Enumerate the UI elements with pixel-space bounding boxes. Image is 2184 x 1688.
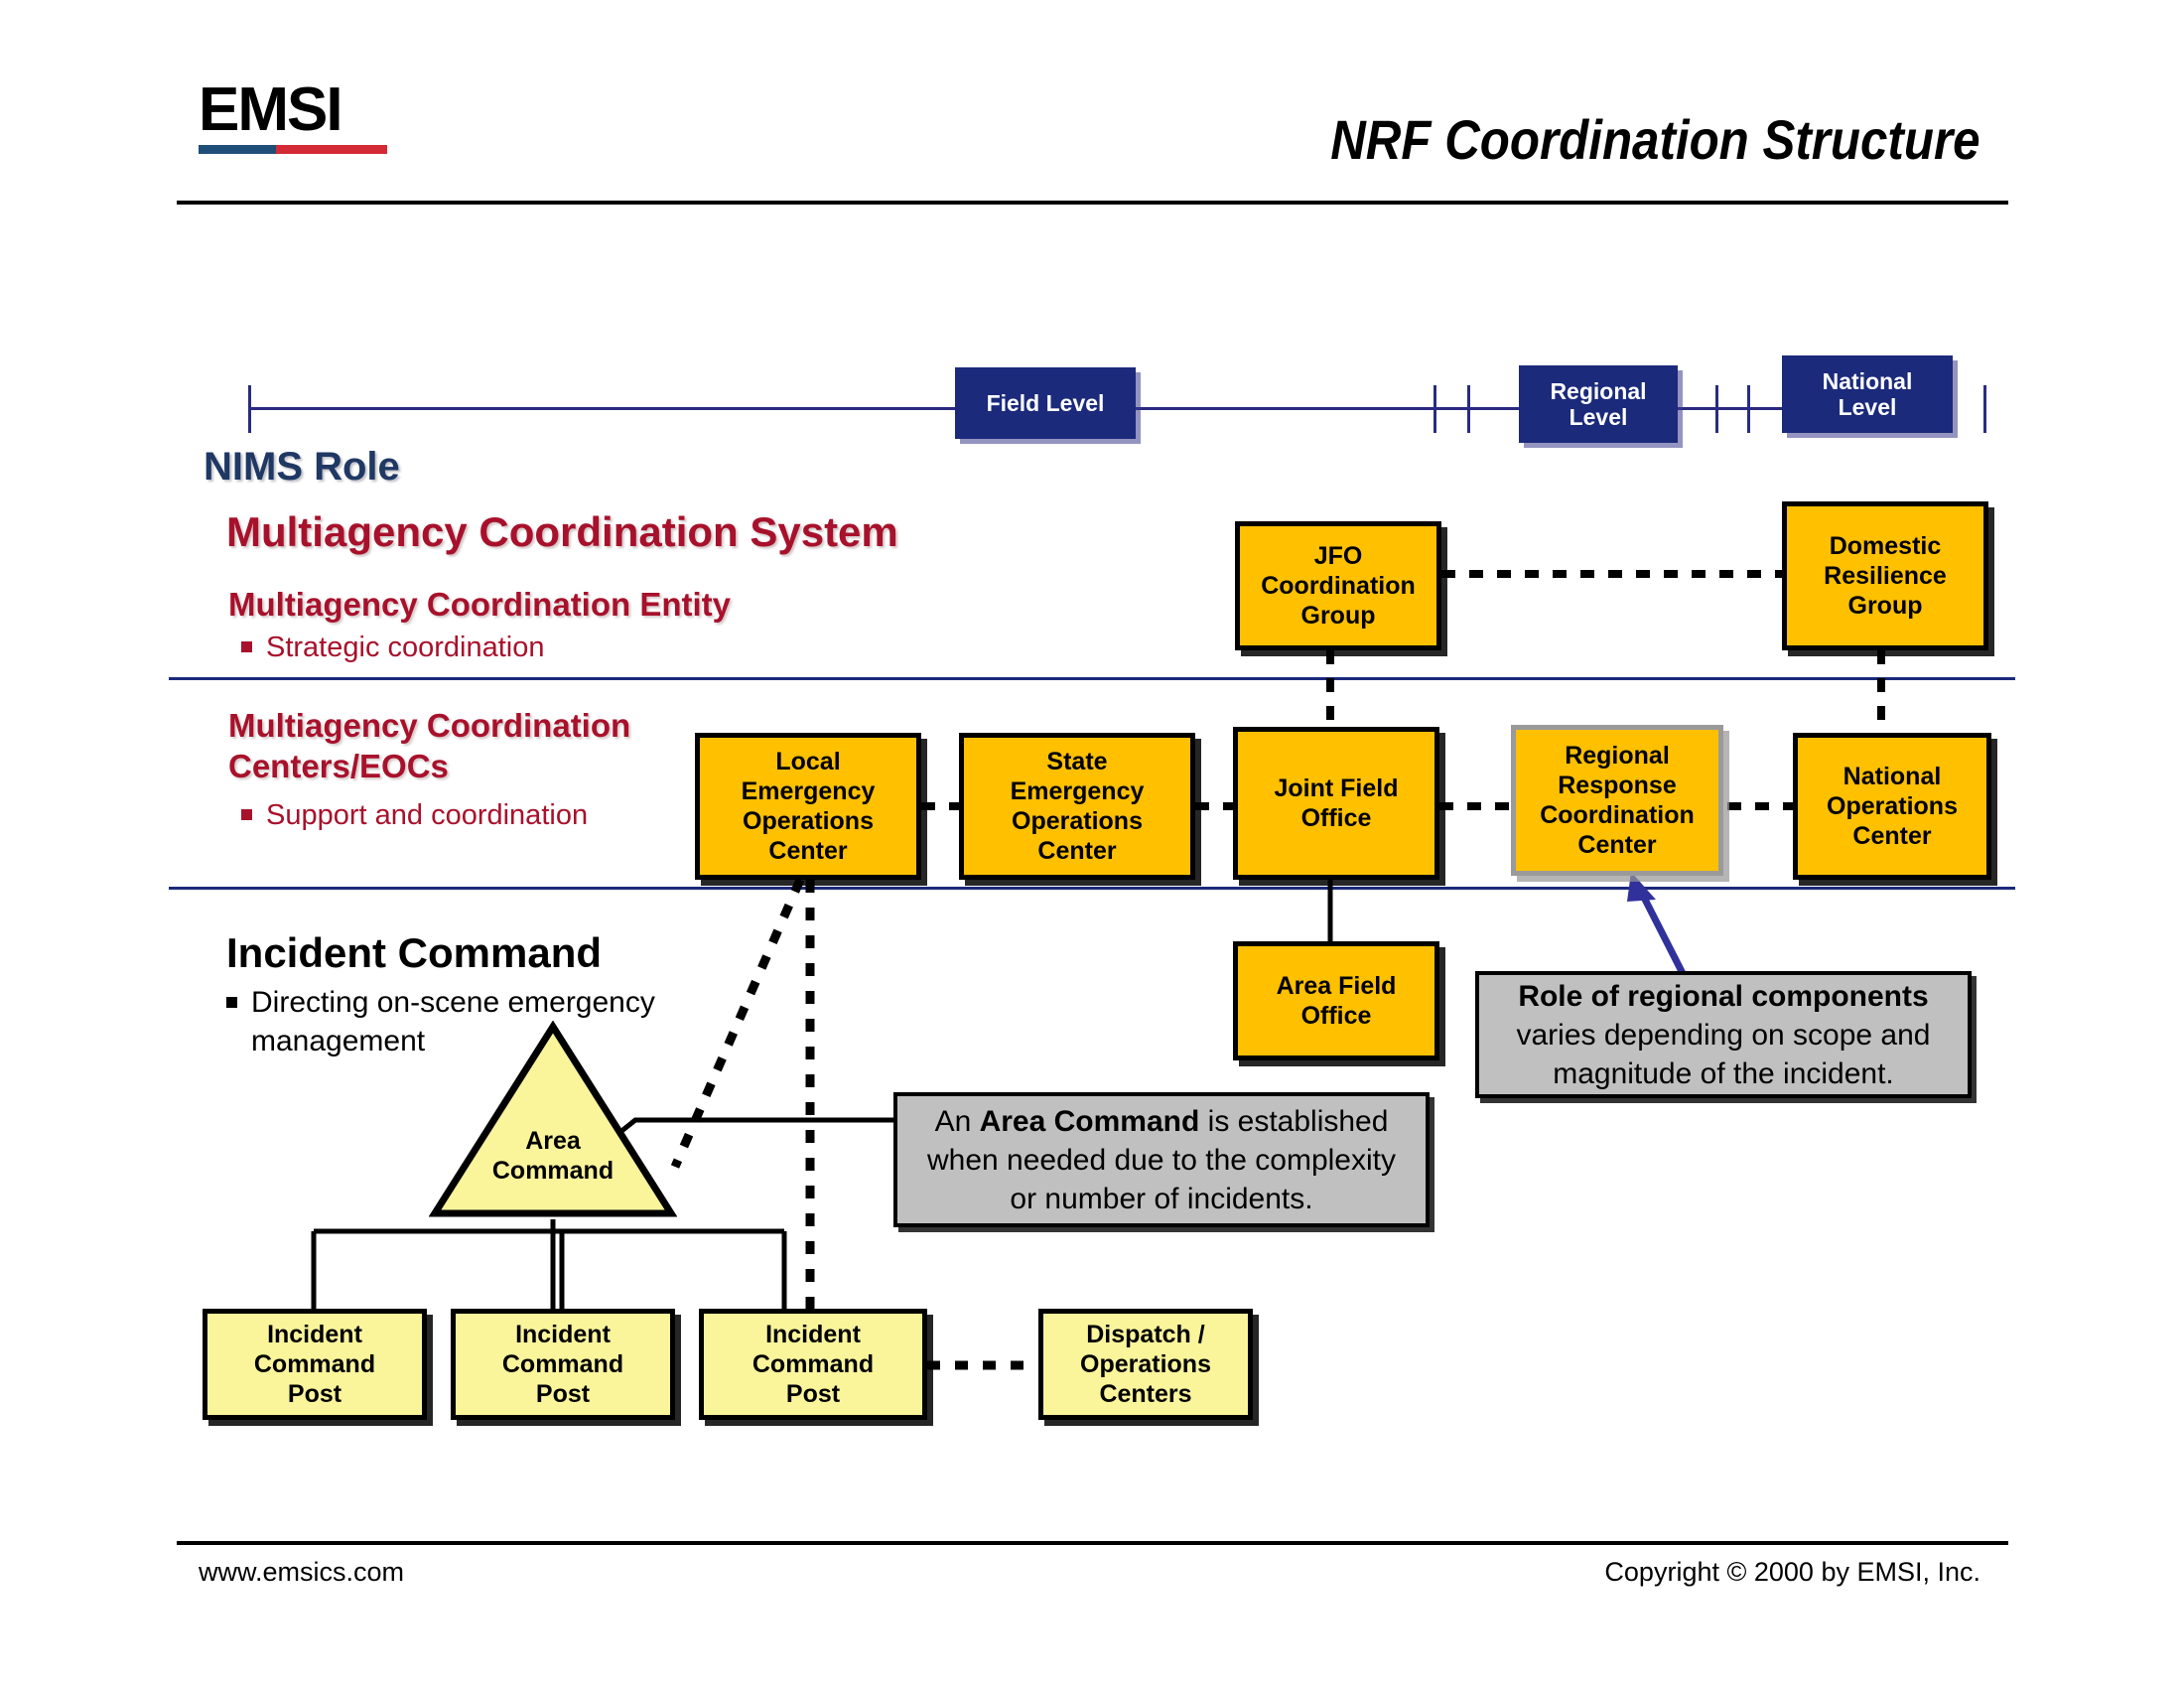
mcc-bullet-text: Support and coordination: [266, 799, 588, 831]
mcc-title-line1: Multiagency Coordination: [228, 705, 630, 746]
level-label-field: Field Level: [987, 390, 1105, 416]
callout-area-command-line1: An Area Command is established: [935, 1102, 1389, 1141]
node-incident-command-post-3[interactable]: Incident Command Post: [699, 1309, 927, 1420]
callout-ac-bold: Area Command: [980, 1105, 1200, 1138]
level-label-national: National Level: [1823, 368, 1913, 421]
ic-bullet-line1: Directing on-scene emergency: [251, 986, 655, 1019]
footer-copyright: Copyright © 2000 by EMSI, Inc.: [1604, 1557, 1980, 1588]
multiagency-coordination-centers-heading: Multiagency Coordination Centers/EOCs: [228, 705, 630, 787]
level-scale-tick-field-end: [1433, 385, 1436, 433]
emsi-logo: EMSI: [199, 79, 397, 154]
level-scale-tick-national-start: [1747, 385, 1750, 433]
page-title: NRF Coordination Structure: [1331, 107, 1980, 172]
bullet-square-icon: [241, 809, 252, 820]
node-incident-command-post-1[interactable]: Incident Command Post: [203, 1309, 427, 1420]
node-local-emergency-operations-center[interactable]: Local Emergency Operations Center: [695, 733, 921, 880]
node-area-command[interactable]: Area Command: [429, 1021, 677, 1219]
node-jfo-coordination-group[interactable]: JFO Coordination Group: [1235, 521, 1441, 650]
mce-bullet-item: Strategic coordination: [241, 632, 545, 664]
node-area-field-office[interactable]: Area Field Office: [1233, 941, 1439, 1060]
bullet-square-icon: [226, 997, 237, 1008]
wire-localeoc-to-areacommand: [675, 880, 800, 1167]
node-national-operations-center[interactable]: National Operations Center: [1793, 733, 1991, 880]
level-box-national[interactable]: National Level: [1782, 355, 1953, 433]
footer-website[interactable]: www.emsics.com: [199, 1557, 404, 1588]
callout-regional-components: Role of regional components varies depen…: [1475, 971, 1972, 1098]
node-regional-response-coordination-center[interactable]: Regional Response Coordination Center: [1511, 725, 1723, 876]
emsi-logo-underline: [199, 145, 387, 154]
area-command-label: Area Command: [429, 1126, 677, 1186]
divider-rule-top: [169, 677, 2015, 680]
multiagency-coordination-entity-heading: Multiagency Coordination Entity: [228, 586, 731, 624]
mce-bullet-text: Strategic coordination: [266, 632, 545, 663]
multiagency-coordination-system-heading: Multiagency Coordination System: [226, 508, 898, 556]
incident-command-heading: Incident Command: [226, 929, 602, 977]
level-scale-tick-end: [1983, 385, 1986, 433]
callout-ac-pre: An: [935, 1105, 980, 1138]
callout-area-command-line3: or number of incidents.: [1010, 1180, 1312, 1218]
node-incident-command-post-2[interactable]: Incident Command Post: [451, 1309, 675, 1420]
callout-area-command: An Area Command is established when need…: [893, 1092, 1430, 1227]
bullet-square-icon: [241, 641, 252, 652]
level-label-regional: Regional Level: [1550, 378, 1646, 431]
node-dispatch-operations-centers[interactable]: Dispatch / Operations Centers: [1038, 1309, 1253, 1420]
callout-ac-post: is established: [1199, 1105, 1388, 1138]
divider-rule-bottom: [169, 887, 2015, 890]
node-joint-field-office[interactable]: Joint Field Office: [1233, 727, 1439, 880]
mcc-bullet-item: Support and coordination: [241, 799, 588, 832]
emsi-logo-text: EMSI: [199, 79, 397, 141]
level-box-field[interactable]: Field Level: [955, 367, 1136, 439]
level-box-regional[interactable]: Regional Level: [1519, 365, 1678, 443]
callout-regional-line2: varies depending on scope and: [1517, 1016, 1931, 1055]
header-divider-rule: [177, 201, 2008, 205]
callout-regional-line3: magnitude of the incident.: [1553, 1055, 1894, 1093]
node-domestic-resilience-group[interactable]: Domestic Resilience Group: [1782, 501, 1988, 650]
level-scale-tick-start: [248, 385, 251, 433]
level-scale-tick-regional-start: [1467, 385, 1470, 433]
mcc-title-line2: Centers/EOCs: [228, 746, 630, 786]
logo-bar-red: [276, 145, 387, 154]
area-command-triangle-shape: [429, 1021, 677, 1219]
footer-divider-rule: [177, 1541, 2008, 1545]
level-scale-tick-regional-end: [1715, 385, 1718, 433]
node-state-emergency-operations-center[interactable]: State Emergency Operations Center: [959, 733, 1195, 880]
nims-role-heading: NIMS Role: [204, 445, 400, 490]
logo-bar-blue: [199, 145, 276, 154]
callout-regional-bold-line: Role of regional components: [1518, 977, 1928, 1016]
callout-area-command-line2: when needed due to the complexity: [927, 1141, 1396, 1180]
